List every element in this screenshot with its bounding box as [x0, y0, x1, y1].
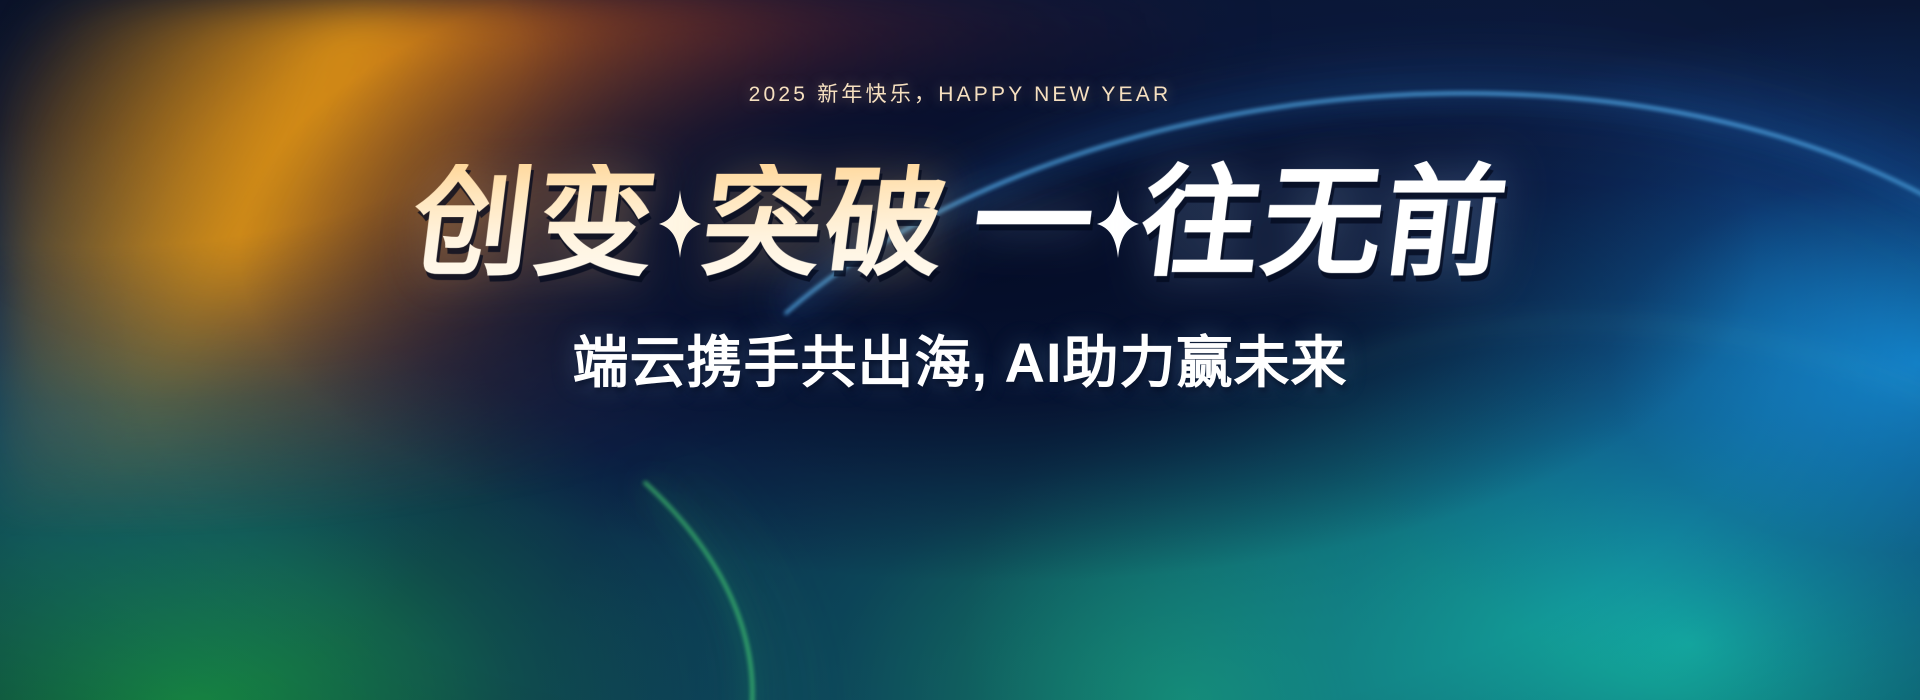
banner-subtitle: 端云携手共出海, AI助力赢未来 [572, 318, 1347, 399]
banner-tagline: 2025 新年快乐，HAPPY NEW YEAR [749, 78, 1172, 108]
new-year-banner: 2025 新年快乐，HAPPY NEW YEAR 创变 突破 一 往无前 端云携… [0, 0, 1920, 700]
sparkle-icon [1095, 176, 1141, 272]
headline-segment-wangwuqian: 往无前 [1134, 164, 1515, 284]
banner-headline: 创变 突破 一 往无前 [413, 164, 1507, 284]
headline-segment-tupo: 突破 [696, 164, 955, 284]
headline-segment-chuangbian: 创变 [406, 164, 665, 284]
banner-content: 2025 新年快乐，HAPPY NEW YEAR 创变 突破 一 往无前 端云携… [0, 0, 1920, 700]
sparkle-icon [657, 176, 703, 272]
headline-segment-yiwangwuqian-prefix: 一 [966, 164, 1103, 284]
